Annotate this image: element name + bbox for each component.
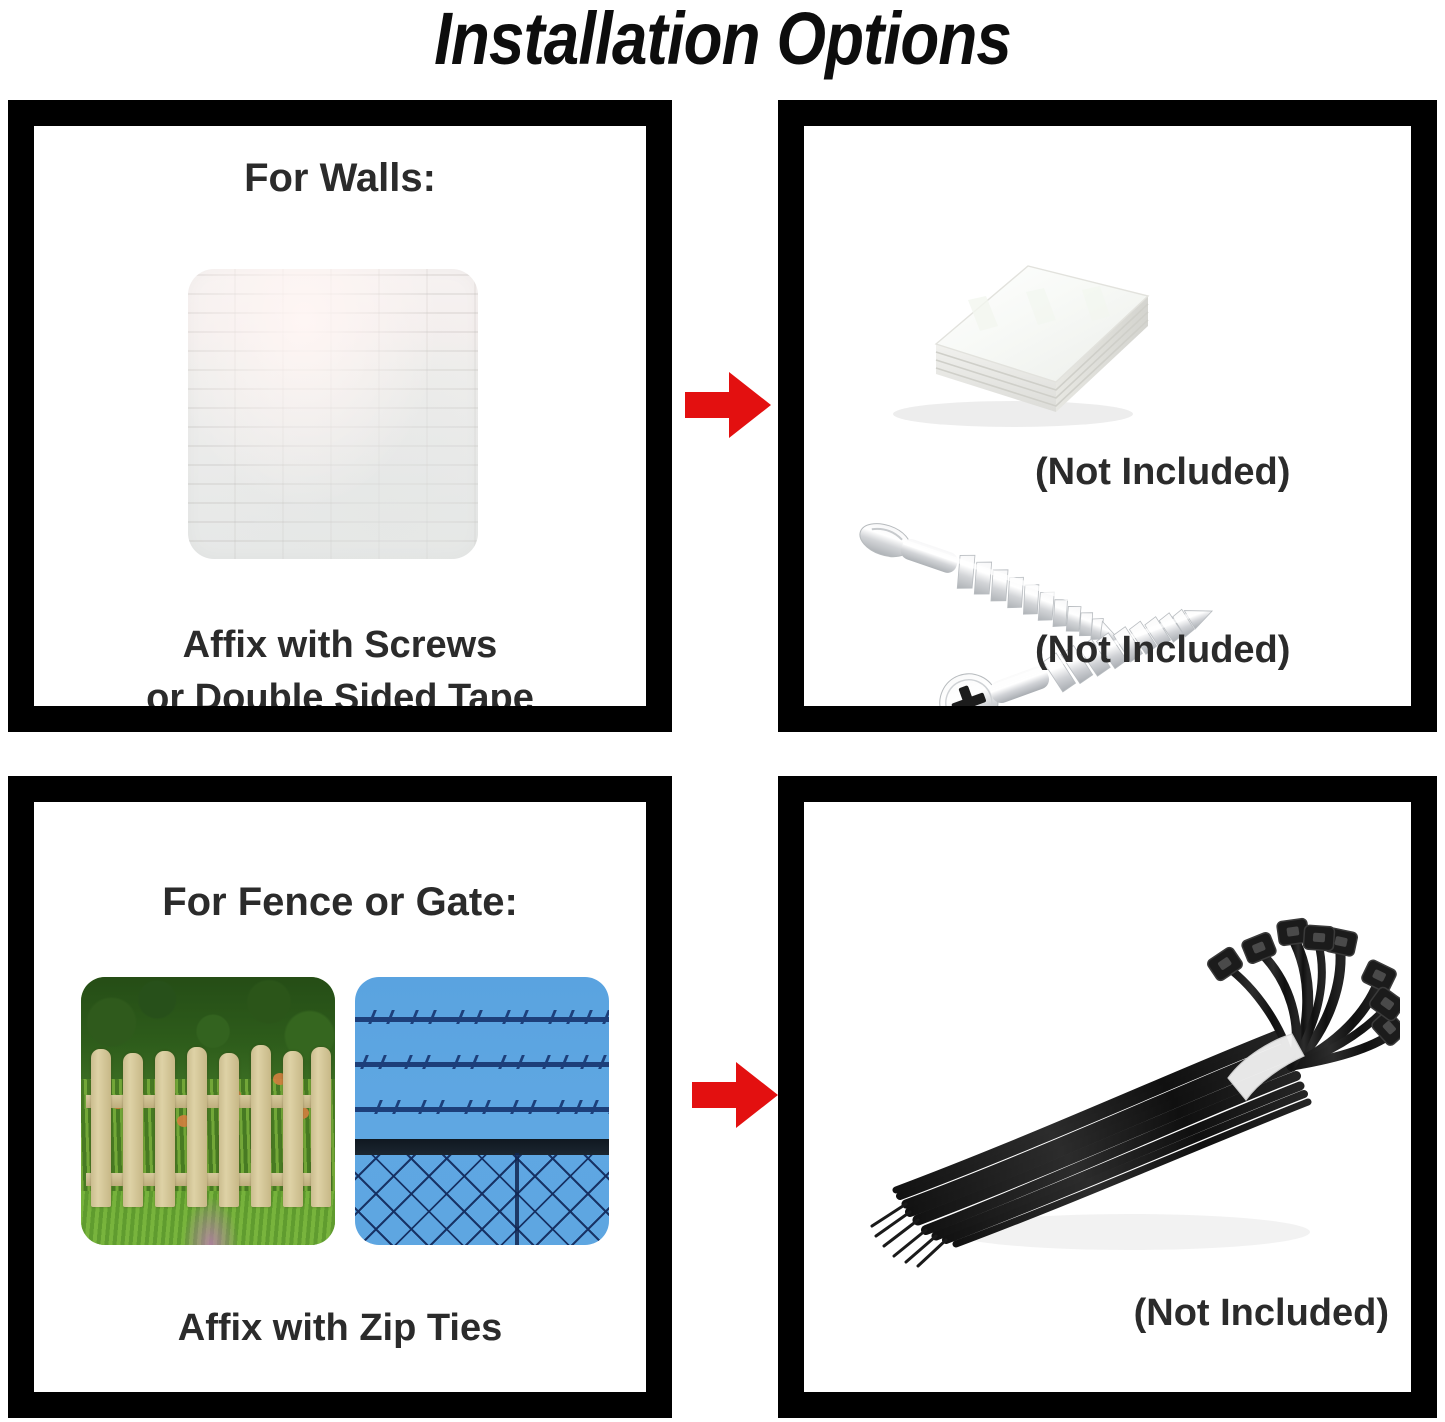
panel-for-fence-or-gate: For Fence or Gate: — [8, 776, 672, 1418]
page-title: Installation Options — [101, 0, 1344, 81]
installation-options-infographic: Installation Options For Walls: Affix wi… — [0, 0, 1445, 1422]
panel-for-fence-caption: Affix with Zip Ties — [34, 1307, 646, 1350]
fence-post — [515, 1153, 519, 1245]
screws-not-included-label: (Not Included) — [1035, 629, 1395, 672]
panel-wall-hardware: (Not Included) — [778, 100, 1437, 732]
panel-for-walls-caption-line-2: or Double Sided Tape — [34, 677, 646, 706]
panel-zip-ties: (Not Included) — [778, 776, 1437, 1418]
red-right-arrow-icon-top — [683, 368, 773, 442]
barbed-wire-chain-link-fence-photo — [355, 977, 609, 1245]
panel-for-walls: For Walls: Affix with Screws or Double S… — [8, 100, 672, 732]
fence-top-rail — [355, 1139, 609, 1155]
double-sided-tape-stack — [858, 236, 1158, 436]
barb-row-2 — [355, 1055, 609, 1071]
panel-wall-hardware-inner: (Not Included) — [804, 126, 1411, 706]
white-brick-wall-swatch — [188, 269, 478, 559]
picket-fence-scene — [81, 977, 335, 1245]
barbed-wire-scene — [355, 977, 609, 1245]
panel-for-walls-heading: For Walls: — [34, 156, 646, 201]
brick-texture-haze — [188, 269, 478, 559]
tape-not-included-label: (Not Included) — [1035, 451, 1395, 494]
panel-for-fence-heading: For Fence or Gate: — [34, 880, 646, 925]
panel-for-walls-caption-line-1: Affix with Screws — [34, 624, 646, 667]
chain-link-mesh — [355, 1155, 609, 1245]
red-right-arrow-icon-bottom — [690, 1058, 780, 1132]
wooden-picket-fence-photo — [81, 977, 335, 1245]
barb-row-3 — [355, 1100, 609, 1116]
black-zip-tie-bundle — [840, 880, 1400, 1280]
zip-ties-not-included-label: (Not Included) — [969, 1292, 1389, 1335]
barb-row-1 — [355, 1010, 609, 1026]
panel-zip-ties-inner: (Not Included) — [804, 802, 1411, 1392]
panel-for-walls-inner: For Walls: Affix with Screws or Double S… — [34, 126, 646, 706]
panel-for-fence-or-gate-inner: For Fence or Gate: — [34, 802, 646, 1392]
